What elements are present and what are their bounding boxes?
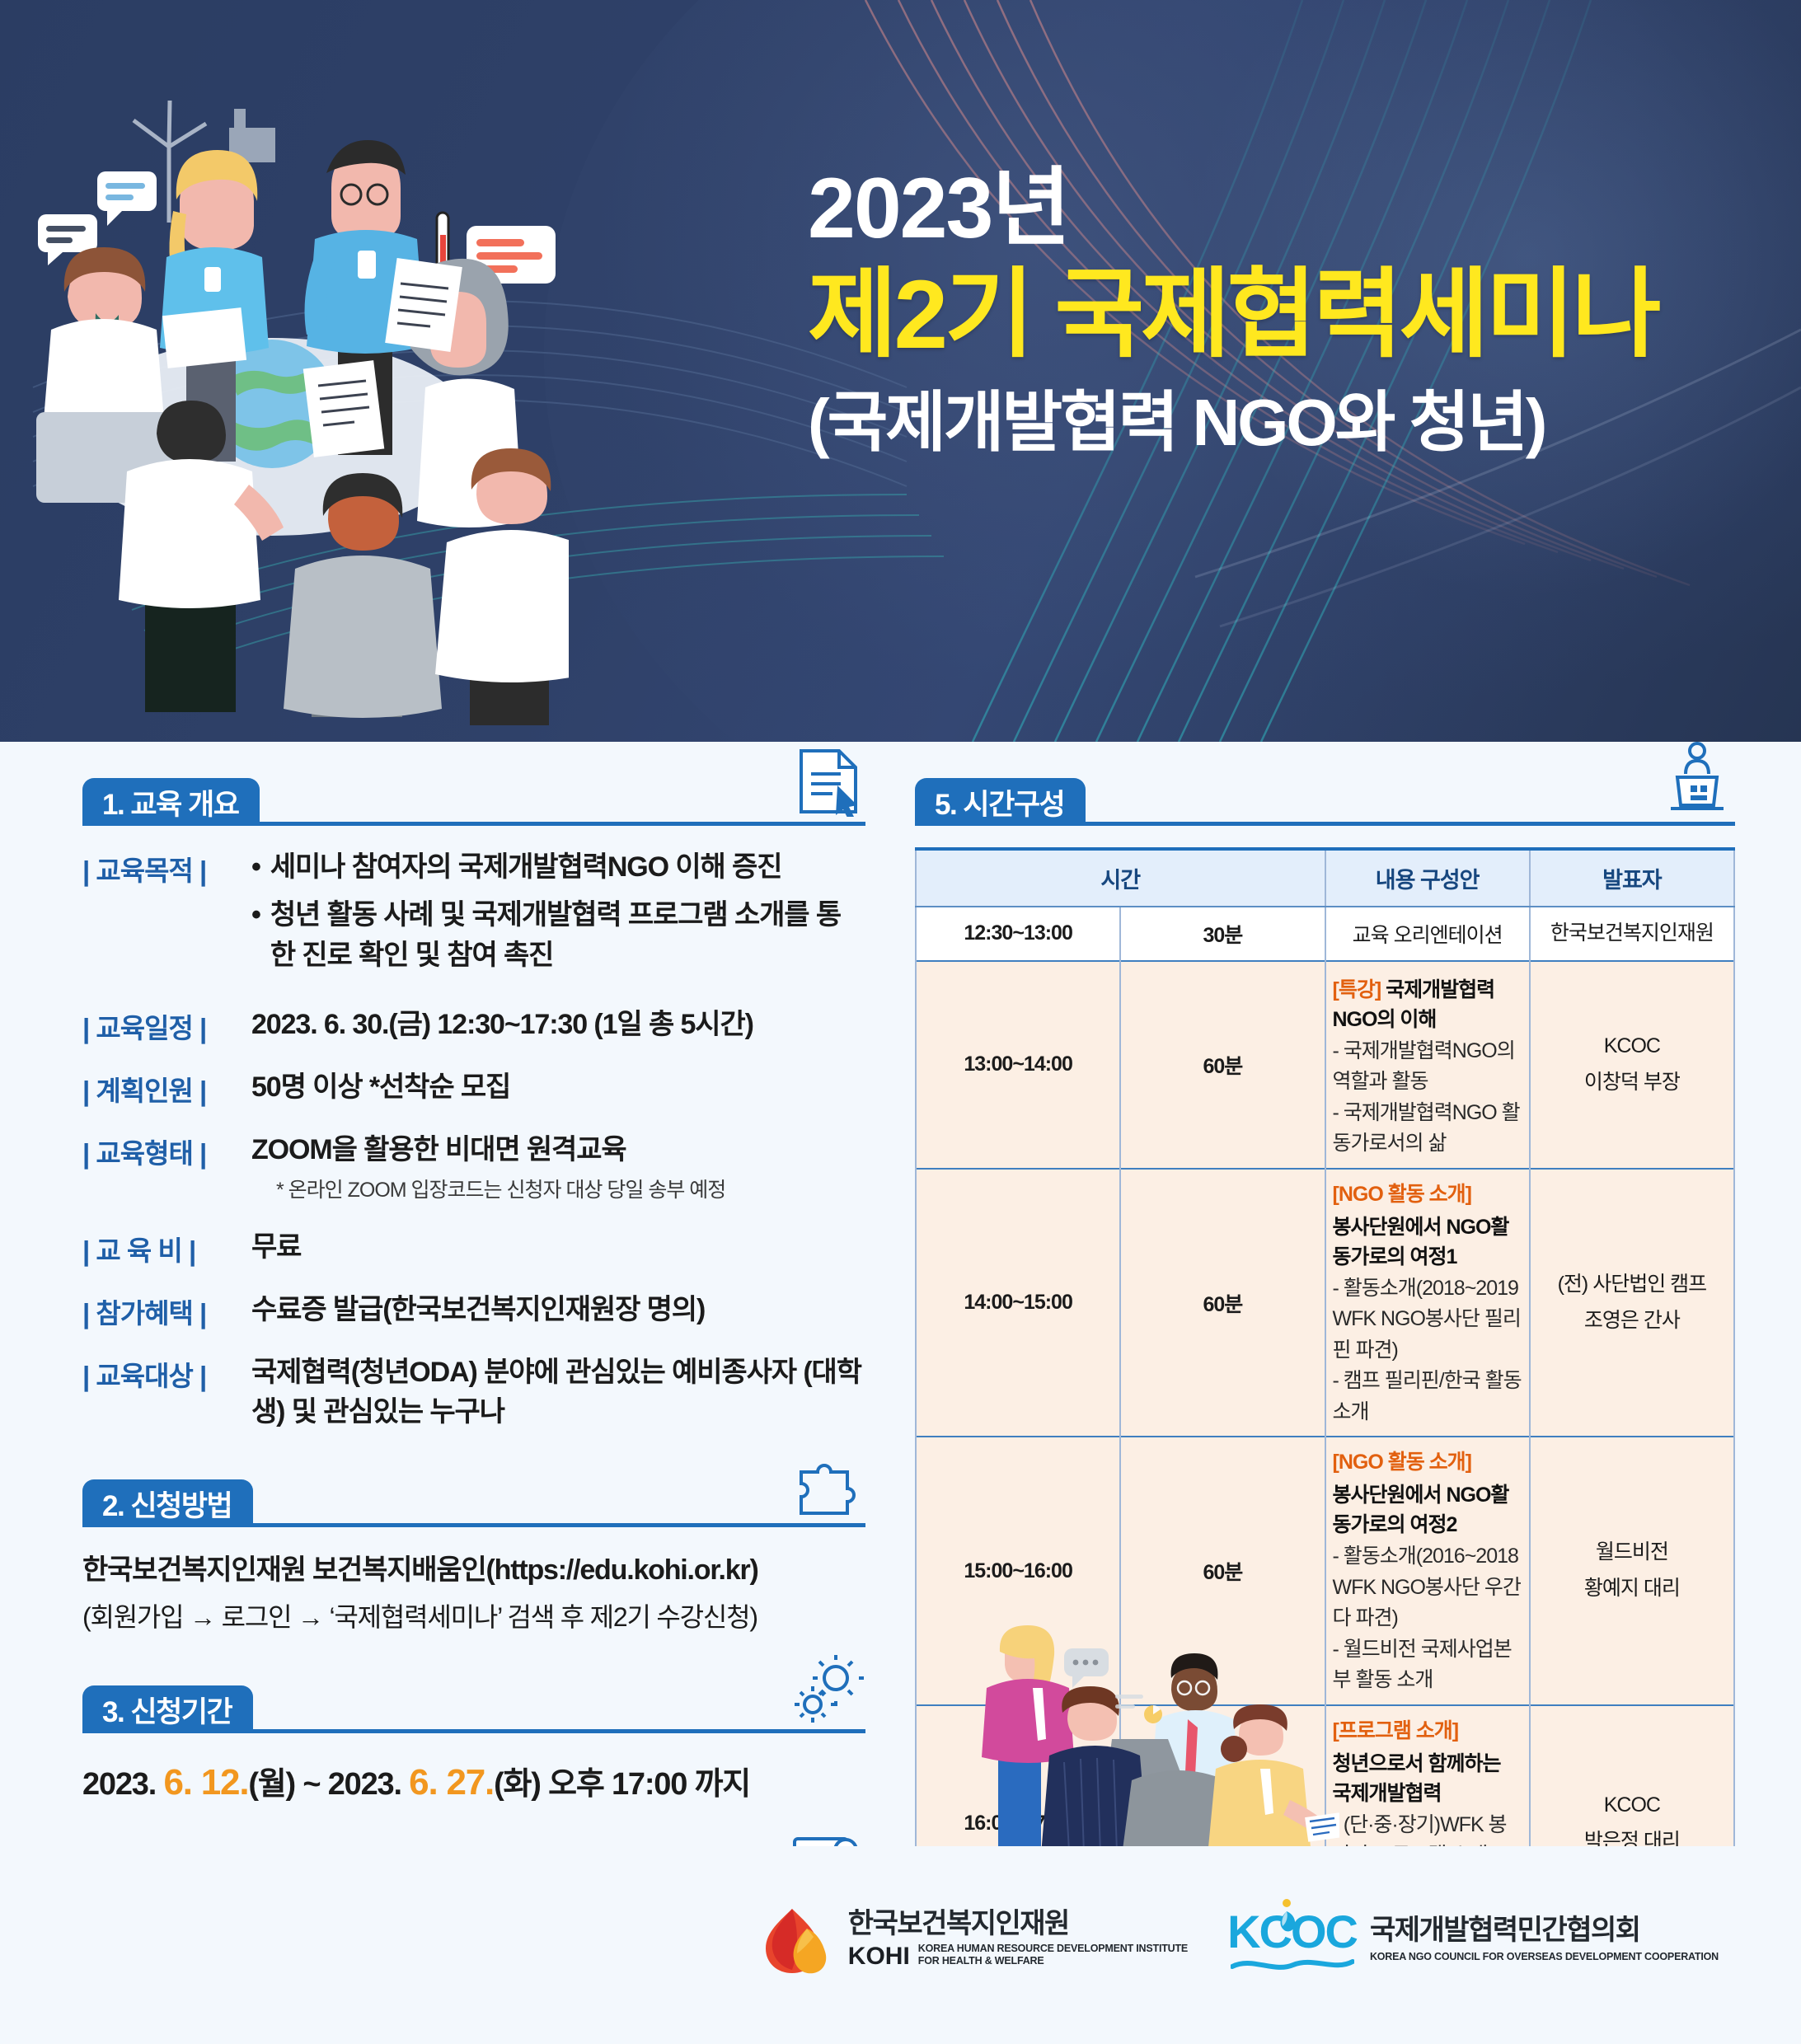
overview-term-format: | 교육형태 | [82, 1130, 251, 1171]
kohi-english-line2: FOR HEALTH & WELFARE [918, 1955, 1188, 1968]
section-rule [260, 822, 865, 826]
col-header-content: 내용 구성안 [1325, 849, 1530, 907]
overview-term-schedule: | 교육일정 | [82, 1005, 251, 1046]
overview-value-schedule: 2023. 6. 30.(금) 12:30~17:30 (1일 총 5시간) [251, 1005, 865, 1044]
overview-format-note: * 온라인 ZOOM 입장코드는 신청자 대상 당일 송부 예정 [251, 1176, 865, 1206]
cell-time: 12:30~13:00 [916, 907, 1120, 961]
section-overview-title: 1. 교육 개요 [82, 778, 260, 826]
overview-value-purpose: • 세미나 참여자의 국제개발협력NGO 이해 증진 • 청년 활동 사례 및 … [251, 847, 865, 983]
kohi-korean-name: 한국보건복지인재원 [848, 1910, 1188, 1939]
apply-period-start: 6. 12. [163, 1762, 248, 1803]
overview-term-benefit: | 참가혜택 | [82, 1290, 251, 1331]
overview-row-purpose: | 교육목적 | • 세미나 참여자의 국제개발협력NGO 이해 증진 • 청년… [82, 847, 865, 983]
content-tag: [NGO 활동 소개] [1333, 1451, 1472, 1474]
kohi-logo-text: 한국보건복지인재원 KOHI KOREA HUMAN RESOURCE DEVE… [848, 1910, 1188, 1971]
section-apply-period-title: 3. 신청기간 [82, 1685, 253, 1733]
section-apply-period: 3. 신청기간 2023. 6. 12.(월) ~ 2023. 6. 27.(화… [82, 1682, 865, 1811]
apply-period-suffix: (화) 오후 17:00 까지 [494, 1767, 750, 1802]
document-cursor-icon [790, 746, 865, 821]
cell-speaker: 월드비전 황예지 대리 [1530, 1437, 1734, 1705]
apply-period-value: 2023. 6. 12.(월) ~ 2023. 6. 27.(화) 오후 17:… [82, 1755, 865, 1811]
cell-speaker: 한국보건복지인재원 [1530, 907, 1734, 961]
hero-title: 제2기 국제협력세미나 [808, 258, 1764, 373]
kcoc-wave-icon [1231, 1958, 1354, 1976]
cell-duration: 60분 [1120, 1169, 1325, 1437]
cell-content: [NGO 활동 소개] 봉사단원에서 NGO활동가로의 여정2 - 활동소개(2… [1325, 1437, 1530, 1705]
cell-content: 교육 오리엔테이션 [1325, 907, 1530, 961]
speaker-org: 월드비전 [1537, 1535, 1727, 1571]
bullet-dot-icon: • [251, 895, 260, 975]
section-schedule-header: 5. 시간구성 [915, 775, 1735, 826]
kcoc-logo: KCOC 국제개발협력민간협의회 KOREA NGO COUNCIL FOR O… [1227, 1905, 1719, 1976]
kcoc-korean-name: 국제개발협력민간협의회 [1370, 1916, 1719, 1946]
content-title-text: 봉사단원에서 NGO활동가로의 여정2 [1333, 1479, 1522, 1538]
overview-term-fee: | 교 육 비 | [82, 1227, 251, 1268]
kohi-mark-icon [749, 1901, 835, 1980]
section-overview-header: 1. 교육 개요 [82, 775, 865, 826]
kcoc-english-name: KOREA NGO COUNCIL FOR OVERSEAS DEVELOPME… [1370, 1951, 1719, 1964]
section-apply-period-header: 3. 신청기간 [82, 1682, 865, 1733]
section-apply-method-title: 2. 신청방법 [82, 1479, 253, 1527]
content-tag: [NGO 활동 소개] [1333, 1183, 1472, 1206]
cell-time: 14:00~15:00 [916, 1169, 1120, 1437]
footer-bar: 한국보건복지인재원 KOHI KOREA HUMAN RESOURCE DEVE… [0, 1846, 1801, 2044]
overview-row-capacity: | 계획인원 | 50명 이상 *선착순 모집 [82, 1067, 865, 1109]
content-tag: [프로그램 소개] [1333, 1719, 1459, 1742]
content-title: [특강] 국제개발협력NGO의 이해 [1333, 973, 1522, 1033]
lectern-icon [1659, 741, 1735, 821]
cell-content: [특강] 국제개발협력NGO의 이해 - 국제개발협력NGO의 역할과 활동 -… [1325, 961, 1530, 1169]
cell-duration: 30분 [1120, 907, 1325, 961]
content-item: - 활동소개(2018~2019 WFK NGO봉사단 필리핀 파견) [1333, 1273, 1522, 1367]
overview-format-text: ZOOM을 활용한 비대면 원격교육 [251, 1134, 626, 1165]
kcoc-mark-icon: KCOC [1227, 1905, 1357, 1976]
overview-list: | 교육목적 | • 세미나 참여자의 국제개발협력NGO 이해 증진 • 청년… [82, 847, 865, 1432]
section-apply-method: 2. 신청방법 한국보건복지인재원 보건복지배움인(https://edu.ko… [82, 1476, 865, 1638]
section-rule [253, 1523, 865, 1527]
section-schedule-title: 5. 시간구성 [915, 778, 1086, 826]
overview-row-schedule: | 교육일정 | 2023. 6. 30.(금) 12:30~17:30 (1일… [82, 1005, 865, 1046]
table-row: 13:00~14:00 60분 [특강] 국제개발협력NGO의 이해 - 국제개… [916, 961, 1734, 1169]
purpose-bullet-2-text: 청년 활동 사례 및 국제개발협력 프로그램 소개를 통한 진로 확인 및 참여… [270, 895, 865, 975]
overview-row-audience: | 교육대상 | 국제협력(청년ODA) 분야에 관심있는 예비종사자 (대학생… [82, 1353, 865, 1432]
table-row: 14:00~15:00 60분 [NGO 활동 소개] 봉사단원에서 NGO활동… [916, 1169, 1734, 1437]
schedule-header-row: 시간 내용 구성안 발표자 [916, 849, 1734, 907]
kohi-english-name: KOREA HUMAN RESOURCE DEVELOPMENT INSTITU… [918, 1943, 1188, 1968]
content-tag: [특강] [1333, 978, 1381, 1001]
hero-year: 2023년 [808, 161, 1764, 256]
speaker-name: 조영은 간사 [1537, 1303, 1727, 1339]
footer-people-illustration [944, 1624, 1339, 1871]
hero-people-illustration [25, 49, 569, 742]
kohi-english-line1: KOREA HUMAN RESOURCE DEVELOPMENT INSTITU… [918, 1943, 1188, 1956]
purpose-bullet-1: • 세미나 참여자의 국제개발협력NGO 이해 증진 [251, 847, 865, 887]
table-row: 12:30~13:00 30분 교육 오리엔테이션 한국보건복지인재원 [916, 907, 1734, 961]
overview-term-capacity: | 계획인원 | [82, 1067, 251, 1109]
cell-content: [NGO 활동 소개] 봉사단원에서 NGO활동가로의 여정1 - 활동소개(2… [1325, 1169, 1530, 1437]
col-header-time: 시간 [916, 849, 1325, 907]
overview-row-format: | 교육형태 | ZOOM을 활용한 비대면 원격교육 * 온라인 ZOOM 입… [82, 1130, 865, 1206]
bullet-dot-icon: • [251, 847, 260, 887]
section-rule [1086, 822, 1735, 826]
apply-method-line2: (회원가입 → 로그인 → ‘국제협력세미나’ 검색 후 제2기 수강신청) [82, 1597, 865, 1638]
apply-period-mid: (월) ~ 2023. [248, 1767, 409, 1802]
speaker-org: KCOC [1537, 1029, 1727, 1065]
content-item: - 국제개발협력NGO 활동가로서의 삶 [1333, 1098, 1522, 1160]
apply-period-prefix: 2023. [82, 1767, 163, 1802]
section-apply-method-header: 2. 신청방법 [82, 1476, 865, 1527]
overview-term-purpose: | 교육목적 | [82, 847, 251, 888]
content-title-text: 청년으로서 함께하는 국제개발협력 [1333, 1747, 1522, 1807]
col-header-speaker: 발표자 [1530, 849, 1734, 907]
cell-speaker: KCOC 이창덕 부장 [1530, 961, 1734, 1169]
overview-value-fee: 무료 [251, 1227, 865, 1267]
content-item: - 국제개발협력NGO의 역할과 활동 [1333, 1036, 1522, 1098]
content-item: - 캠프 필리핀/한국 활동 소개 [1333, 1366, 1522, 1428]
poster-root: 2023년 제2기 국제협력세미나 (국제개발협력 NGO와 청년) 1. 교육… [0, 0, 1801, 2044]
schedule-table-head: 시간 내용 구성안 발표자 [916, 849, 1734, 907]
kcoc-logo-text: 국제개발협력민간협의회 KOREA NGO COUNCIL FOR OVERSE… [1370, 1916, 1719, 1963]
overview-value-capacity: 50명 이상 *선착순 모집 [251, 1067, 865, 1107]
overview-value-audience: 국제협력(청년ODA) 분야에 관심있는 예비종사자 (대학생) 및 관심있는 … [251, 1353, 865, 1432]
overview-term-audience: | 교육대상 | [82, 1353, 251, 1394]
overview-value-benefit: 수료증 발급(한국보건복지인재원장 명의) [251, 1290, 865, 1329]
content-item: - 활동소개(2016~2018 WFK NGO봉사단 우간다 파견) [1333, 1541, 1522, 1634]
speaker-org: (전) 사단법인 캠프 [1537, 1267, 1727, 1303]
hero-text-block: 2023년 제2기 국제협력세미나 (국제개발협력 NGO와 청년) [808, 161, 1764, 464]
kohi-mark-word: KOHI [848, 1943, 910, 1971]
hero-subtitle: (국제개발협력 NGO와 청년) [808, 382, 1764, 464]
speaker-name: 이창덕 부장 [1537, 1065, 1727, 1101]
cell-time: 13:00~14:00 [916, 961, 1120, 1169]
apply-method-line1: 한국보건복지인재원 보건복지배움인(https://edu.kohi.or.kr… [82, 1549, 865, 1592]
cell-duration: 60분 [1120, 961, 1325, 1169]
apply-period-end: 6. 27. [409, 1762, 494, 1803]
overview-value-format: ZOOM을 활용한 비대면 원격교육 * 온라인 ZOOM 입장코드는 신청자 … [251, 1130, 865, 1206]
kohi-logo: 한국보건복지인재원 KOHI KOREA HUMAN RESOURCE DEVE… [749, 1901, 1188, 1980]
content-item: - 월드비전 국제사업본부 활동 소개 [1333, 1634, 1522, 1696]
cell-speaker: (전) 사단법인 캠프 조영은 간사 [1530, 1169, 1734, 1437]
purpose-bullet-1-text: 세미나 참여자의 국제개발협력NGO 이해 증진 [270, 847, 782, 887]
section-overview: 1. 교육 개요 [82, 775, 865, 1432]
hero-banner: 2023년 제2기 국제협력세미나 (국제개발협력 NGO와 청년) [0, 0, 1801, 742]
content-title-text: 봉사단원에서 NGO활동가로의 여정1 [1333, 1211, 1522, 1270]
footer-logos: 한국보건복지인재원 KOHI KOREA HUMAN RESOURCE DEVE… [749, 1901, 1719, 1980]
purpose-bullet-2: • 청년 활동 사례 및 국제개발협력 프로그램 소개를 통한 진로 확인 및 … [251, 895, 865, 975]
speaker-org: KCOC [1537, 1788, 1727, 1824]
gears-icon [790, 1653, 865, 1728]
kcoc-droplet-icon [1270, 1898, 1303, 1938]
overview-row-fee: | 교 육 비 | 무료 [82, 1227, 865, 1268]
speaker-name: 황예지 대리 [1537, 1571, 1727, 1607]
overview-row-benefit: | 참가혜택 | 수료증 발급(한국보건복지인재원장 명의) [82, 1290, 865, 1331]
puzzle-piece-icon [793, 1447, 865, 1522]
section-rule [253, 1729, 865, 1733]
